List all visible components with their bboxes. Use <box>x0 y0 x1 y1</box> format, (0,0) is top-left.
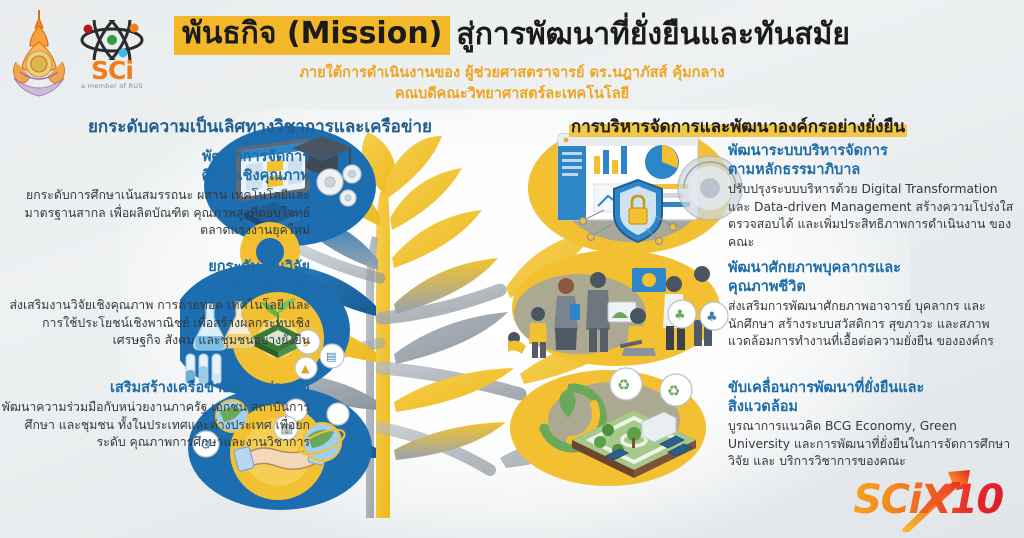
block-title: พัฒนาศักยภาพบุคลากรและ คุณภาพชีวิต <box>728 259 1018 297</box>
block-sustainability: ขับเคลื่อนการพัฒนาที่ยั่งยืนและ สิ่งแวดล… <box>728 379 1018 471</box>
block-research-innovation: ยกระดับงานวิจัย และนวัตกรรม ส่งเสริมงานว… <box>0 258 310 350</box>
block-title-line-1: พัฒนาระบบบริหารจัดการ <box>728 142 1018 161</box>
block-title-line-1: พัฒนาการจัดการ <box>10 148 310 167</box>
block-body: ส่งเสริมการพัฒนาศักยภาพอาจารย์ บุคลากร แ… <box>728 298 1018 350</box>
block-title-line-2: ศึกษาเชิงคุณภาพ <box>10 167 310 186</box>
title-rest: สู่การพัฒนาที่ยั่งยืนและทันสมัย <box>450 18 850 53</box>
block-title-line-1: เสริมสร้างเครือข่ายความร่วมมือ <box>0 379 310 398</box>
scix10-wordmark: SCiX10 <box>848 480 1008 520</box>
title-highlight: พันธกิจ (Mission) <box>174 16 450 55</box>
bubble-governance <box>528 122 742 254</box>
block-title-line-2: คุณภาพชีวิต <box>728 278 1018 297</box>
bubble-sustainability: ♻ ♻ <box>510 368 706 486</box>
block-quality-education: พัฒนาการจัดการ ศึกษาเชิงคุณภาพ ยกระดับกา… <box>10 148 310 240</box>
block-title-line-2: และนวัตกรรม <box>0 277 310 296</box>
block-body: ยกระดับการศึกษาเน้นสมรรถนะ ผสาน เทคโนโลย… <box>10 187 310 239</box>
section-header-management: การบริหารจัดการและพัฒนาองค์กรอย่างยั่งยื… <box>548 117 928 137</box>
block-title-line-2: ตามหลักธรรมาภิบาล <box>728 161 1018 180</box>
block-collaboration-network: เสริมสร้างเครือข่ายความร่วมมือ พัฒนาความ… <box>0 379 310 451</box>
svg-text:▤: ▤ <box>326 350 336 363</box>
block-title: พัฒนาการจัดการ ศึกษาเชิงคุณภาพ <box>10 148 310 186</box>
page-title: พันธกิจ (Mission)สู่การพัฒนาที่ยั่งยืนแล… <box>174 16 850 55</box>
svg-text:♻: ♻ <box>667 382 680 400</box>
block-title: ขับเคลื่อนการพัฒนาที่ยั่งยืนและ สิ่งแวดล… <box>728 379 1018 417</box>
section-header-academic: ยกระดับความเป็นเลิศทางวิชาการและเครือข่า… <box>60 117 460 137</box>
svg-text:♣: ♣ <box>706 310 718 325</box>
block-governance: พัฒนาระบบบริหารจัดการ ตามหลักธรรมาภิบาล … <box>728 142 1018 251</box>
subtitle-line-1: ภายใต้การดำเนินงานของ ผู้ช่วยศาสตราจารย์… <box>0 63 1024 85</box>
svg-text:♣: ♣ <box>674 308 686 323</box>
block-title: ยกระดับงานวิจัย และนวัตกรรม <box>0 258 310 296</box>
scix10-logo: SCiX10 <box>848 470 1008 532</box>
block-title-line-1: พัฒนาศักยภาพบุคลากรและ <box>728 259 1018 278</box>
block-body: ปรับปรุงระบบบริหารด้วย Digital Transform… <box>728 181 1018 251</box>
block-title-line-1: ยกระดับงานวิจัย <box>0 258 310 277</box>
block-title-line-2: สิ่งแวดล้อม <box>728 398 1018 417</box>
subtitle: ภายใต้การดำเนินงานของ ผู้ช่วยศาสตราจารย์… <box>0 63 1024 107</box>
poster-root: $ ▤ ▲ <box>0 0 1024 538</box>
block-human-capital: พัฒนาศักยภาพบุคลากรและ คุณภาพชีวิต ส่งเส… <box>728 259 1018 351</box>
svg-text:▲: ▲ <box>301 362 310 375</box>
section-header-management-text: การบริหารจัดการและพัฒนาองค์กรอย่างยั่งยื… <box>569 117 907 137</box>
block-title-line-1: ขับเคลื่อนการพัฒนาที่ยั่งยืนและ <box>728 379 1018 398</box>
block-body: พัฒนาความร่วมมือกับหน่วยงานภาครัฐ เอกชน … <box>0 399 310 451</box>
poster-header: พันธกิจ (Mission)สู่การพัฒนาที่ยั่งยืนแล… <box>0 16 1024 106</box>
block-title: พัฒนาระบบบริหารจัดการ ตามหลักธรรมาภิบาล <box>728 142 1018 180</box>
block-title: เสริมสร้างเครือข่ายความร่วมมือ <box>0 379 310 398</box>
block-body: บูรณาการแนวคิด BCG Economy, Green Univer… <box>728 418 1018 470</box>
svg-text:♻: ♻ <box>617 376 630 394</box>
block-body: ส่งเสริมงานวิจัยเชิงคุณภาพ การถ่ายทอด เท… <box>0 297 310 349</box>
subtitle-line-2: คณบดีคณะวิทยาศาสตร์ละเทคโนโลยี <box>0 84 1024 106</box>
